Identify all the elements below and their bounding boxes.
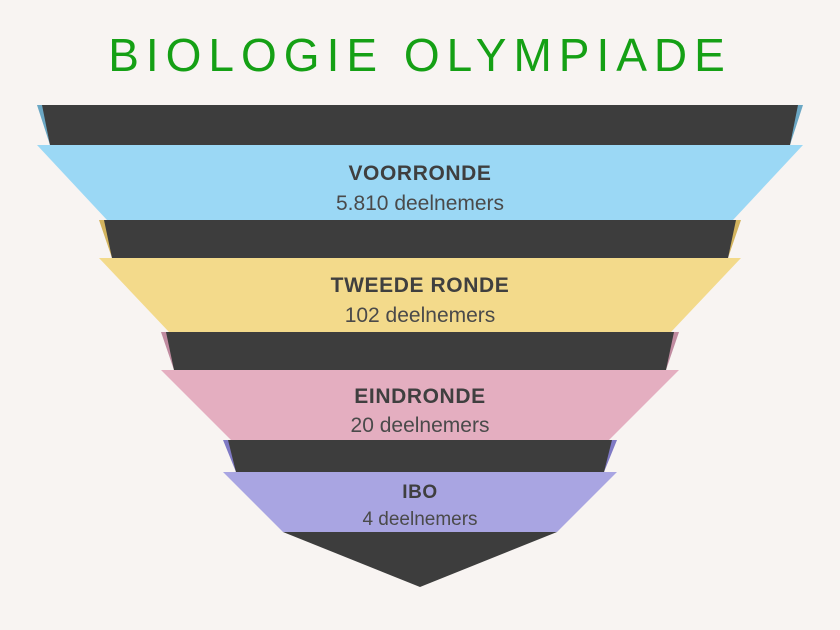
funnel-stage-2[interactable]: TWEEDE RONDE 102 deelnemers xyxy=(99,220,741,332)
stage-1-count: 5.810 deelnemers xyxy=(336,192,504,215)
stage-4-count: 4 deelnemers xyxy=(362,509,477,530)
stage-4-label: IBO xyxy=(402,482,438,503)
stage-1-label: VOORRONDE xyxy=(348,162,491,185)
funnel-svg: VOORRONDE 5.810 deelnemers TWEEDE RONDE … xyxy=(0,100,840,600)
funnel-stage-3[interactable]: EINDRONDE 20 deelnemers xyxy=(161,332,679,440)
stage-3-dark-band xyxy=(166,332,674,370)
page-title: BIOLOGIE OLYMPIADE xyxy=(0,28,840,82)
funnel-stage-1[interactable]: VOORRONDE 5.810 deelnemers xyxy=(37,105,803,220)
stage-2-label: TWEEDE RONDE xyxy=(331,274,510,297)
stage-3-label: EINDRONDE xyxy=(354,385,485,408)
stage-3-count: 20 deelnemers xyxy=(351,414,490,437)
funnel-stage-4[interactable]: IBO 4 deelnemers xyxy=(223,440,617,532)
stage-2-count: 102 deelnemers xyxy=(345,304,496,327)
infographic-page: BIOLOGIE OLYMPIADE VOORRONDE 5.810 deeln… xyxy=(0,0,840,630)
stage-4-dark-band xyxy=(228,440,612,472)
funnel-tip xyxy=(283,532,557,587)
stage-1-dark-band xyxy=(42,105,798,145)
funnel-chart: VOORRONDE 5.810 deelnemers TWEEDE RONDE … xyxy=(0,100,840,600)
stage-2-dark-band xyxy=(104,220,736,258)
